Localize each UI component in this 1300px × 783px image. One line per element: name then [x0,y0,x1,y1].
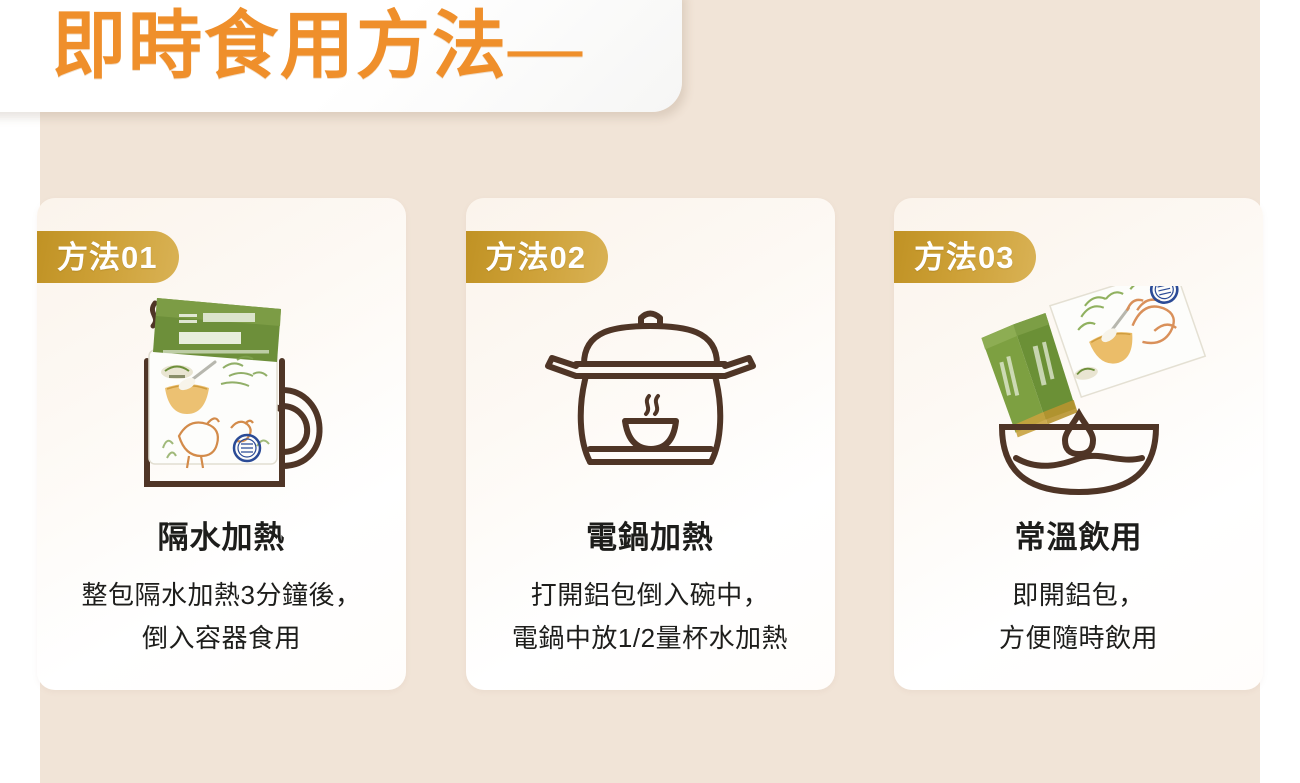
card-3-desc-line-1: 即開鋁包， [1012,580,1145,610]
method-card-2[interactable]: 方法02 [466,198,835,690]
card-3-text: 常溫飲用 即開鋁包， 方便隨時飲用 [894,518,1263,660]
card-1-desc-line-2: 倒入容器食用 [51,617,392,660]
card-2-text: 電鍋加熱 打開鋁包倒入碗中， 電鍋中放1/2量杯水加熱 [466,518,835,660]
card-2-description: 打開鋁包倒入碗中， 電鍋中放1/2量杯水加熱 [480,574,821,660]
badge-method-01: 方法01 [37,231,179,283]
card-3-description: 即開鋁包， 方便隨時飲用 [908,574,1249,660]
page-canvas: 即時食用方法— 方法01 [0,0,1300,783]
card-2-desc-line-1: 打開鋁包倒入碗中， [531,580,770,610]
badge-method-02: 方法02 [466,231,608,283]
method-card-1[interactable]: 方法01 [37,198,406,690]
card-2-title: 電鍋加熱 [480,518,821,558]
card-1-description: 整包隔水加熱3分鐘後， 倒入容器食用 [51,574,392,660]
method-card-3[interactable]: 方法03 [894,198,1263,690]
mug-with-pouch-icon [37,286,406,498]
header-banner: 即時食用方法— [0,0,682,112]
card-3-title: 常溫飲用 [908,518,1249,558]
method-cards-row: 方法01 [37,198,1263,690]
page-title: 即時食用方法— [52,0,584,95]
card-1-desc-line-1: 整包隔水加熱3分鐘後， [82,580,362,610]
card-1-title: 隔水加熱 [51,518,392,558]
card-3-desc-line-2: 方便隨時飲用 [908,617,1249,660]
rice-cooker-icon [466,286,835,498]
pouch-pouring-into-bowl-icon [894,286,1263,498]
card-2-desc-line-2: 電鍋中放1/2量杯水加熱 [480,617,821,660]
card-1-text: 隔水加熱 整包隔水加熱3分鐘後， 倒入容器食用 [37,518,406,660]
badge-method-03: 方法03 [894,231,1036,283]
